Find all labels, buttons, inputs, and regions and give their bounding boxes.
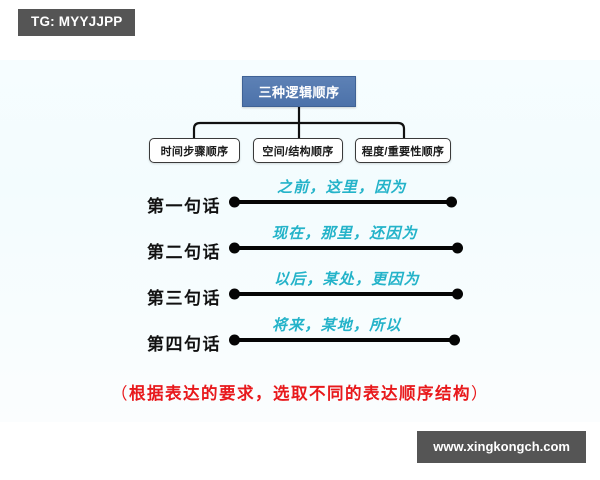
org-chart-leaf-time-sequence: 时间步骤顺序 xyxy=(149,138,240,163)
sentence-row-label: 第一句话 xyxy=(147,192,221,217)
sentence-row: 第四句话 将来，某地，所以 xyxy=(0,316,600,362)
org-chart-leaf-space-structure: 空间/结构顺序 xyxy=(253,138,343,163)
sentence-row: 第三句话 以后，某处，更因为 xyxy=(0,270,600,316)
content-card: 三种逻辑顺序 时间步骤顺序 空间/结构顺序 程度/重要性顺序 第一句话 之前，这… xyxy=(0,60,600,422)
org-chart-root-box: 三种逻辑顺序 xyxy=(242,76,356,107)
caption-open-paren: （ xyxy=(111,385,129,403)
sentence-row-timeline-bar xyxy=(232,200,454,204)
sentence-row-label: 第四句话 xyxy=(147,330,221,355)
site-watermark-badge: www.xingkongch.com xyxy=(417,431,586,463)
org-chart-leaf-degree-importance: 程度/重要性顺序 xyxy=(355,138,451,163)
sentence-row-timeline-bar xyxy=(232,338,457,342)
sentence-row-phrase: 以后，某处，更因为 xyxy=(274,268,420,289)
sentence-row: 第二句话 现在，那里，还因为 xyxy=(0,224,600,270)
sentence-row-label: 第三句话 xyxy=(147,284,221,309)
sentence-row-phrase: 现在，那里，还因为 xyxy=(272,222,418,243)
caption-text: 根据表达的要求，选取不同的表达顺序结构 xyxy=(129,385,471,403)
sentence-rows-list: 第一句话 之前，这里，因为 第二句话 现在，那里，还因为 第三句话 以后，某处，… xyxy=(0,178,600,362)
sentence-row-phrase: 之前，这里，因为 xyxy=(277,176,407,197)
tg-watermark-badge: TG: MYYJJPP xyxy=(18,9,135,36)
sentence-row-timeline-bar xyxy=(232,246,460,250)
sentence-row-phrase: 将来，某地，所以 xyxy=(272,314,402,335)
sentence-row-timeline-bar xyxy=(232,292,460,296)
sentence-row-label: 第二句话 xyxy=(147,238,221,263)
summary-caption: （根据表达的要求，选取不同的表达顺序结构） xyxy=(0,380,600,404)
caption-close-paren: ） xyxy=(471,385,489,403)
logic-order-org-chart: 三种逻辑顺序 时间步骤顺序 空间/结构顺序 程度/重要性顺序 xyxy=(0,60,600,180)
sentence-row: 第一句话 之前，这里，因为 xyxy=(0,178,600,224)
